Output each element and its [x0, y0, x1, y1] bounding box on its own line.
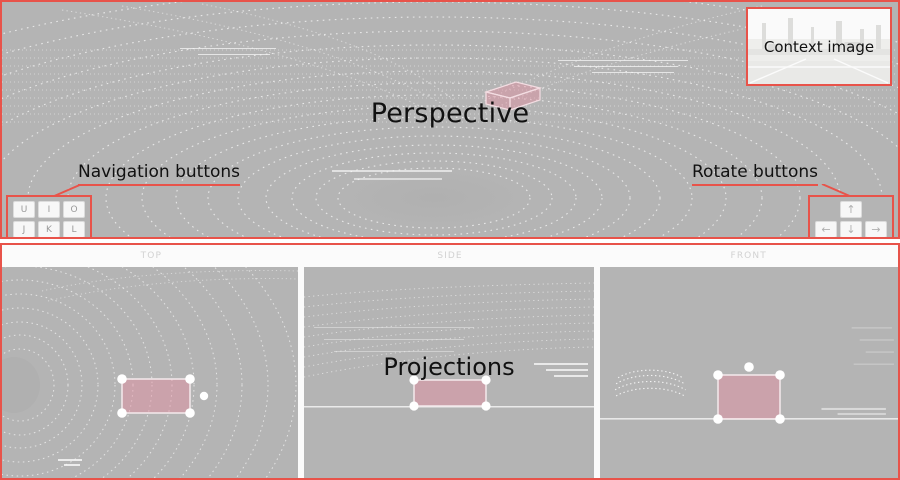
- handle-top-left: [117, 374, 127, 384]
- projections-header: TOP SIDE FRONT: [2, 245, 898, 267]
- handle-bottom-right: [185, 408, 195, 418]
- handle-bottom-right: [775, 414, 785, 424]
- handle-bottom-left: [409, 401, 418, 410]
- projection-view-top[interactable]: [2, 267, 298, 478]
- navigation-buttons-group[interactable]: U I O J K L: [6, 195, 92, 239]
- bounding-box-top-overlay[interactable]: [2, 267, 298, 478]
- context-image-panel[interactable]: Context image: [746, 7, 892, 86]
- navigation-callout-rule: [78, 184, 240, 186]
- arrow-down-icon[interactable]: ↓: [840, 221, 862, 238]
- nav-key-l[interactable]: L: [63, 221, 85, 238]
- arrow-up-icon[interactable]: ↑: [840, 201, 862, 218]
- rotate-buttons-row-bottom: ← ↓ →: [815, 221, 887, 238]
- projection-view-front[interactable]: [600, 267, 898, 478]
- annotation-tool-root: Perspective: [0, 0, 900, 480]
- projections-panel[interactable]: TOP SIDE FRONT: [0, 243, 900, 480]
- handle-bottom-left: [713, 414, 723, 424]
- handle-bottom-right: [481, 401, 490, 410]
- projection-header-front: FRONT: [599, 245, 898, 267]
- projection-view-side[interactable]: Projections: [304, 267, 594, 478]
- navigation-buttons-callout-label: Navigation buttons: [78, 162, 240, 182]
- arrow-left-icon[interactable]: ←: [815, 221, 837, 238]
- perspective-panel[interactable]: Perspective: [0, 0, 900, 239]
- handle-heading: [200, 392, 208, 400]
- bounding-box-front-overlay[interactable]: [600, 267, 896, 478]
- nav-key-j[interactable]: J: [13, 221, 35, 238]
- handle-top-left: [713, 370, 723, 380]
- nav-key-i[interactable]: I: [38, 201, 60, 218]
- rotate-buttons-row-top: ↑: [815, 201, 887, 218]
- navigation-buttons-callout: Navigation buttons: [78, 162, 240, 182]
- nav-key-u[interactable]: U: [13, 201, 35, 218]
- handle-top-center: [744, 362, 754, 372]
- rotate-callout-rule: [692, 184, 818, 186]
- navigation-buttons-row-top: U I O: [13, 201, 85, 218]
- rotate-buttons-callout: Rotate buttons: [692, 162, 818, 182]
- projections-label: Projections: [304, 353, 594, 381]
- nav-key-o[interactable]: O: [63, 201, 85, 218]
- rotate-buttons-group[interactable]: ↑ ← ↓ →: [808, 195, 894, 239]
- navigation-buttons-row-bottom: J K L: [13, 221, 85, 238]
- handle-top-right: [775, 370, 785, 380]
- projection-header-top: TOP: [2, 245, 301, 267]
- perspective-view-label: Perspective: [2, 98, 898, 129]
- handle-top-right: [185, 374, 195, 384]
- context-image-label: Context image: [748, 38, 890, 56]
- projections-body: Projections: [2, 267, 898, 478]
- arrow-right-icon[interactable]: →: [865, 221, 887, 238]
- nav-key-k[interactable]: K: [38, 221, 60, 238]
- handle-bottom-left: [117, 408, 127, 418]
- rotate-buttons-callout-label: Rotate buttons: [692, 162, 818, 182]
- projection-header-side: SIDE: [301, 245, 600, 267]
